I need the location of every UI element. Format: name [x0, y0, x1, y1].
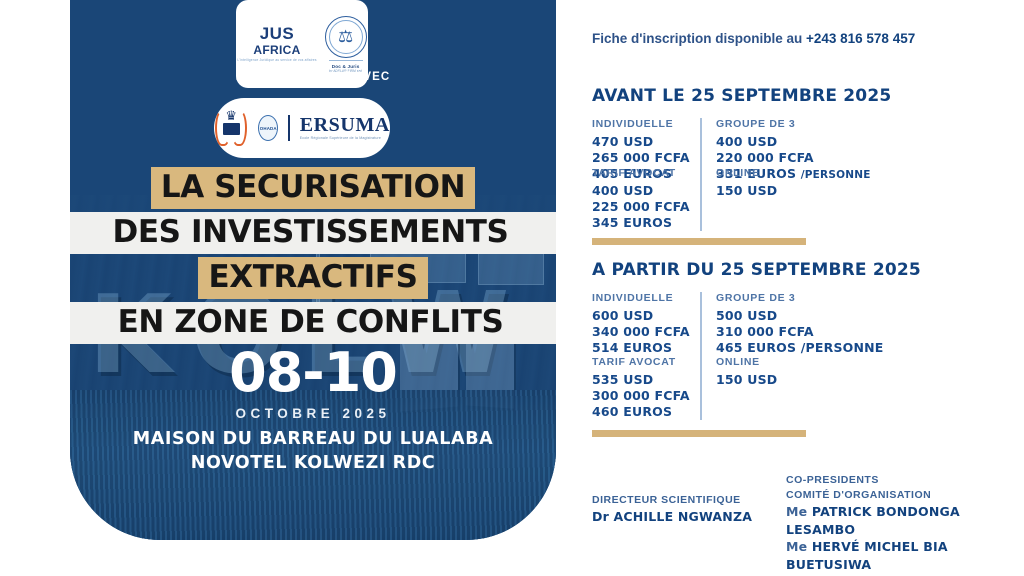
signature-person: PATRICK BONDONGA LESAMBO: [786, 504, 960, 537]
divider: [329, 60, 363, 61]
signature-name-2: Me HERVÉ MICHEL BIA BUETUSIWA: [786, 538, 1024, 573]
pricing-value: 460 EUROS: [592, 404, 700, 420]
pricing-value: 310 000 FCFA: [716, 324, 915, 340]
pricing-value: 514 EUROS: [592, 340, 700, 356]
pricing-value: 150 USD: [716, 183, 915, 199]
pricing-label: TARIF AVOCAT: [592, 356, 700, 368]
gavel-icon: ⚖: [338, 28, 353, 45]
pricing-cell-groupe: GROUPE DE 3 500 USD 310 000 FCFA 465 EUR…: [700, 292, 915, 356]
event-date-number: 08-10: [70, 346, 556, 400]
pricing-value: 400 USD: [716, 134, 915, 150]
section-divider: [592, 430, 806, 437]
jus-africa-tagline: L'intelligence Juridique au service de v…: [237, 59, 316, 62]
pricing-label: ONLINE: [716, 356, 915, 368]
pricing-label: TARIF AVOCAT: [592, 167, 700, 179]
pricing-cell-individuelle: INDIVIDUELLE 600 USD 340 000 FCFA 514 EU…: [592, 292, 700, 356]
pricing-label: INDIVIDUELLE: [592, 118, 700, 130]
event-venue: MAISON DU BARREAU DU LUALABA NOVOTEL KOL…: [70, 428, 556, 475]
headline-line-2: DES INVESTISSEMENTS: [70, 212, 556, 254]
pricing-value: 340 000 FCFA: [592, 324, 700, 340]
headline-line-3: EXTRACTIFS: [198, 257, 427, 299]
pricing-row: TARIF AVOCAT 400 USD 225 000 FCFA 345 EU…: [592, 167, 1024, 231]
pricing-cell-online: ONLINE 150 USD: [700, 167, 915, 231]
pricing-cell-online: ONLINE 150 USD: [700, 356, 915, 420]
headline-line-1: LA SECURISATION: [151, 167, 475, 209]
poster-flyer-canvas: K O L W JUS AFRICA L'intelligence Juridi…: [0, 0, 1024, 576]
pricing-cell-tarif-avocat: TARIF AVOCAT 535 USD 300 000 FCFA 460 EU…: [592, 356, 700, 420]
signature-caption-line-1: CO-PRESIDENTS: [786, 473, 1024, 488]
signature-name: Dr ACHILLE NGWANZA: [592, 508, 752, 526]
ersuma-name: ERSUMA: [300, 115, 390, 135]
doc-et-juris-logo: ⚖ Doc & Juris by ADELAR FIRM sarl: [325, 16, 367, 73]
pricing-row: INDIVIDUELLE 600 USD 340 000 FCFA 514 EU…: [592, 292, 1024, 356]
partner-label: EN PARTENARIAT AVEC: [70, 71, 556, 83]
pricing-label: INDIVIDUELLE: [592, 292, 700, 304]
poster-headline: LA SECURISATION DES INVESTISSEMENTS EXTR…: [70, 167, 556, 347]
pricing-label: GROUPE DE 3: [716, 292, 915, 304]
logo-card-partner: ♛ OHADA ERSUMA Ecole Régionale Supérieur…: [214, 98, 390, 158]
pricing-value: 300 000 FCFA: [592, 388, 700, 404]
pricing-value: 220 000 FCFA: [716, 150, 915, 166]
pricing-row: TARIF AVOCAT 535 USD 300 000 FCFA 460 EU…: [592, 356, 1024, 420]
divider: [288, 115, 289, 141]
registration-contact-prefix: Fiche d'inscription disponible au: [592, 31, 806, 46]
headline-line-4: EN ZONE DE CONFLITS: [70, 302, 556, 344]
pricing-value: 465 EUROS /PERSONNE: [716, 340, 915, 356]
pricing-row-late-secondary: TARIF AVOCAT 535 USD 300 000 FCFA 460 EU…: [592, 356, 1024, 420]
laurel-wreath-icon: ♛: [214, 106, 248, 150]
signature-title-prefix: Me: [786, 504, 812, 519]
ersuma-subtitle: Ecole Régionale Supérieure de la Magistr…: [300, 137, 390, 141]
registration-phone[interactable]: +243 816 578 457: [806, 31, 915, 46]
signature-co-presidents: CO-PRESIDENTS COMITÉ D'ORGANISATION Me P…: [786, 473, 1024, 573]
pricing-value: 345 EUROS: [592, 215, 700, 231]
pricing-cell-tarif-avocat: TARIF AVOCAT 400 USD 225 000 FCFA 345 EU…: [592, 167, 700, 231]
pricing-section-late: A PARTIR DU 25 SEPTEMBRE 2025 INDIVIDUEL…: [592, 260, 1024, 356]
laurel-right-icon: [231, 110, 247, 146]
pricing-suffix: /PERSONNE: [801, 340, 884, 355]
jus-africa-line2: AFRICA: [237, 44, 316, 56]
ohada-globe-icon: OHADA: [258, 115, 278, 141]
venue-line-2: NOVOTEL KOLWEZI RDC: [70, 452, 556, 476]
pricing-section-title: A PARTIR DU 25 SEPTEMBRE 2025: [592, 260, 1024, 280]
pricing-panel: Fiche d'inscription disponible au +243 8…: [592, 0, 1024, 576]
pricing-value: 600 USD: [592, 308, 700, 324]
registration-contact: Fiche d'inscription disponible au +243 8…: [592, 31, 915, 46]
pricing-value: 225 000 FCFA: [592, 199, 700, 215]
signature-caption-line-2: COMITÉ D'ORGANISATION: [786, 488, 1024, 503]
signature-title-prefix: Me: [786, 539, 812, 554]
jus-africa-line1: JUS: [237, 25, 316, 42]
pricing-amount: 465 EUROS: [716, 340, 796, 355]
signature-scientific-director: DIRECTEUR SCIENTIFIQUE Dr ACHILLE NGWANZ…: [592, 493, 752, 526]
signature-name-1: Me PATRICK BONDONGA LESAMBO: [786, 503, 1024, 538]
event-poster: K O L W JUS AFRICA L'intelligence Juridi…: [70, 0, 556, 540]
pricing-value: 535 USD: [592, 372, 700, 388]
pricing-value: 500 USD: [716, 308, 915, 324]
ersuma-wordmark: ERSUMA Ecole Régionale Supérieure de la …: [300, 115, 390, 141]
pricing-value: 265 000 FCFA: [592, 150, 700, 166]
pricing-row-early-secondary: TARIF AVOCAT 400 USD 225 000 FCFA 345 EU…: [592, 167, 1024, 231]
laurel-left-icon: [215, 110, 231, 146]
pricing-value: 470 USD: [592, 134, 700, 150]
section-divider: [592, 238, 806, 245]
event-date-month: OCTOBRE 2025: [70, 406, 556, 421]
pricing-label: GROUPE DE 3: [716, 118, 915, 130]
venue-line-1: MAISON DU BARREAU DU LUALABA: [70, 428, 556, 452]
jus-africa-logo: JUS AFRICA L'intelligence Juridique au s…: [237, 25, 316, 62]
event-dates: 08-10 OCTOBRE 2025: [70, 346, 556, 421]
signature-caption: DIRECTEUR SCIENTIFIQUE: [592, 493, 752, 508]
pricing-value: 400 USD: [592, 183, 700, 199]
pricing-label: ONLINE: [716, 167, 915, 179]
pricing-value: 150 USD: [716, 372, 915, 388]
gavel-seal-icon: ⚖: [325, 16, 367, 58]
pricing-section-title: AVANT LE 25 SEPTEMBRE 2025: [592, 86, 1024, 106]
